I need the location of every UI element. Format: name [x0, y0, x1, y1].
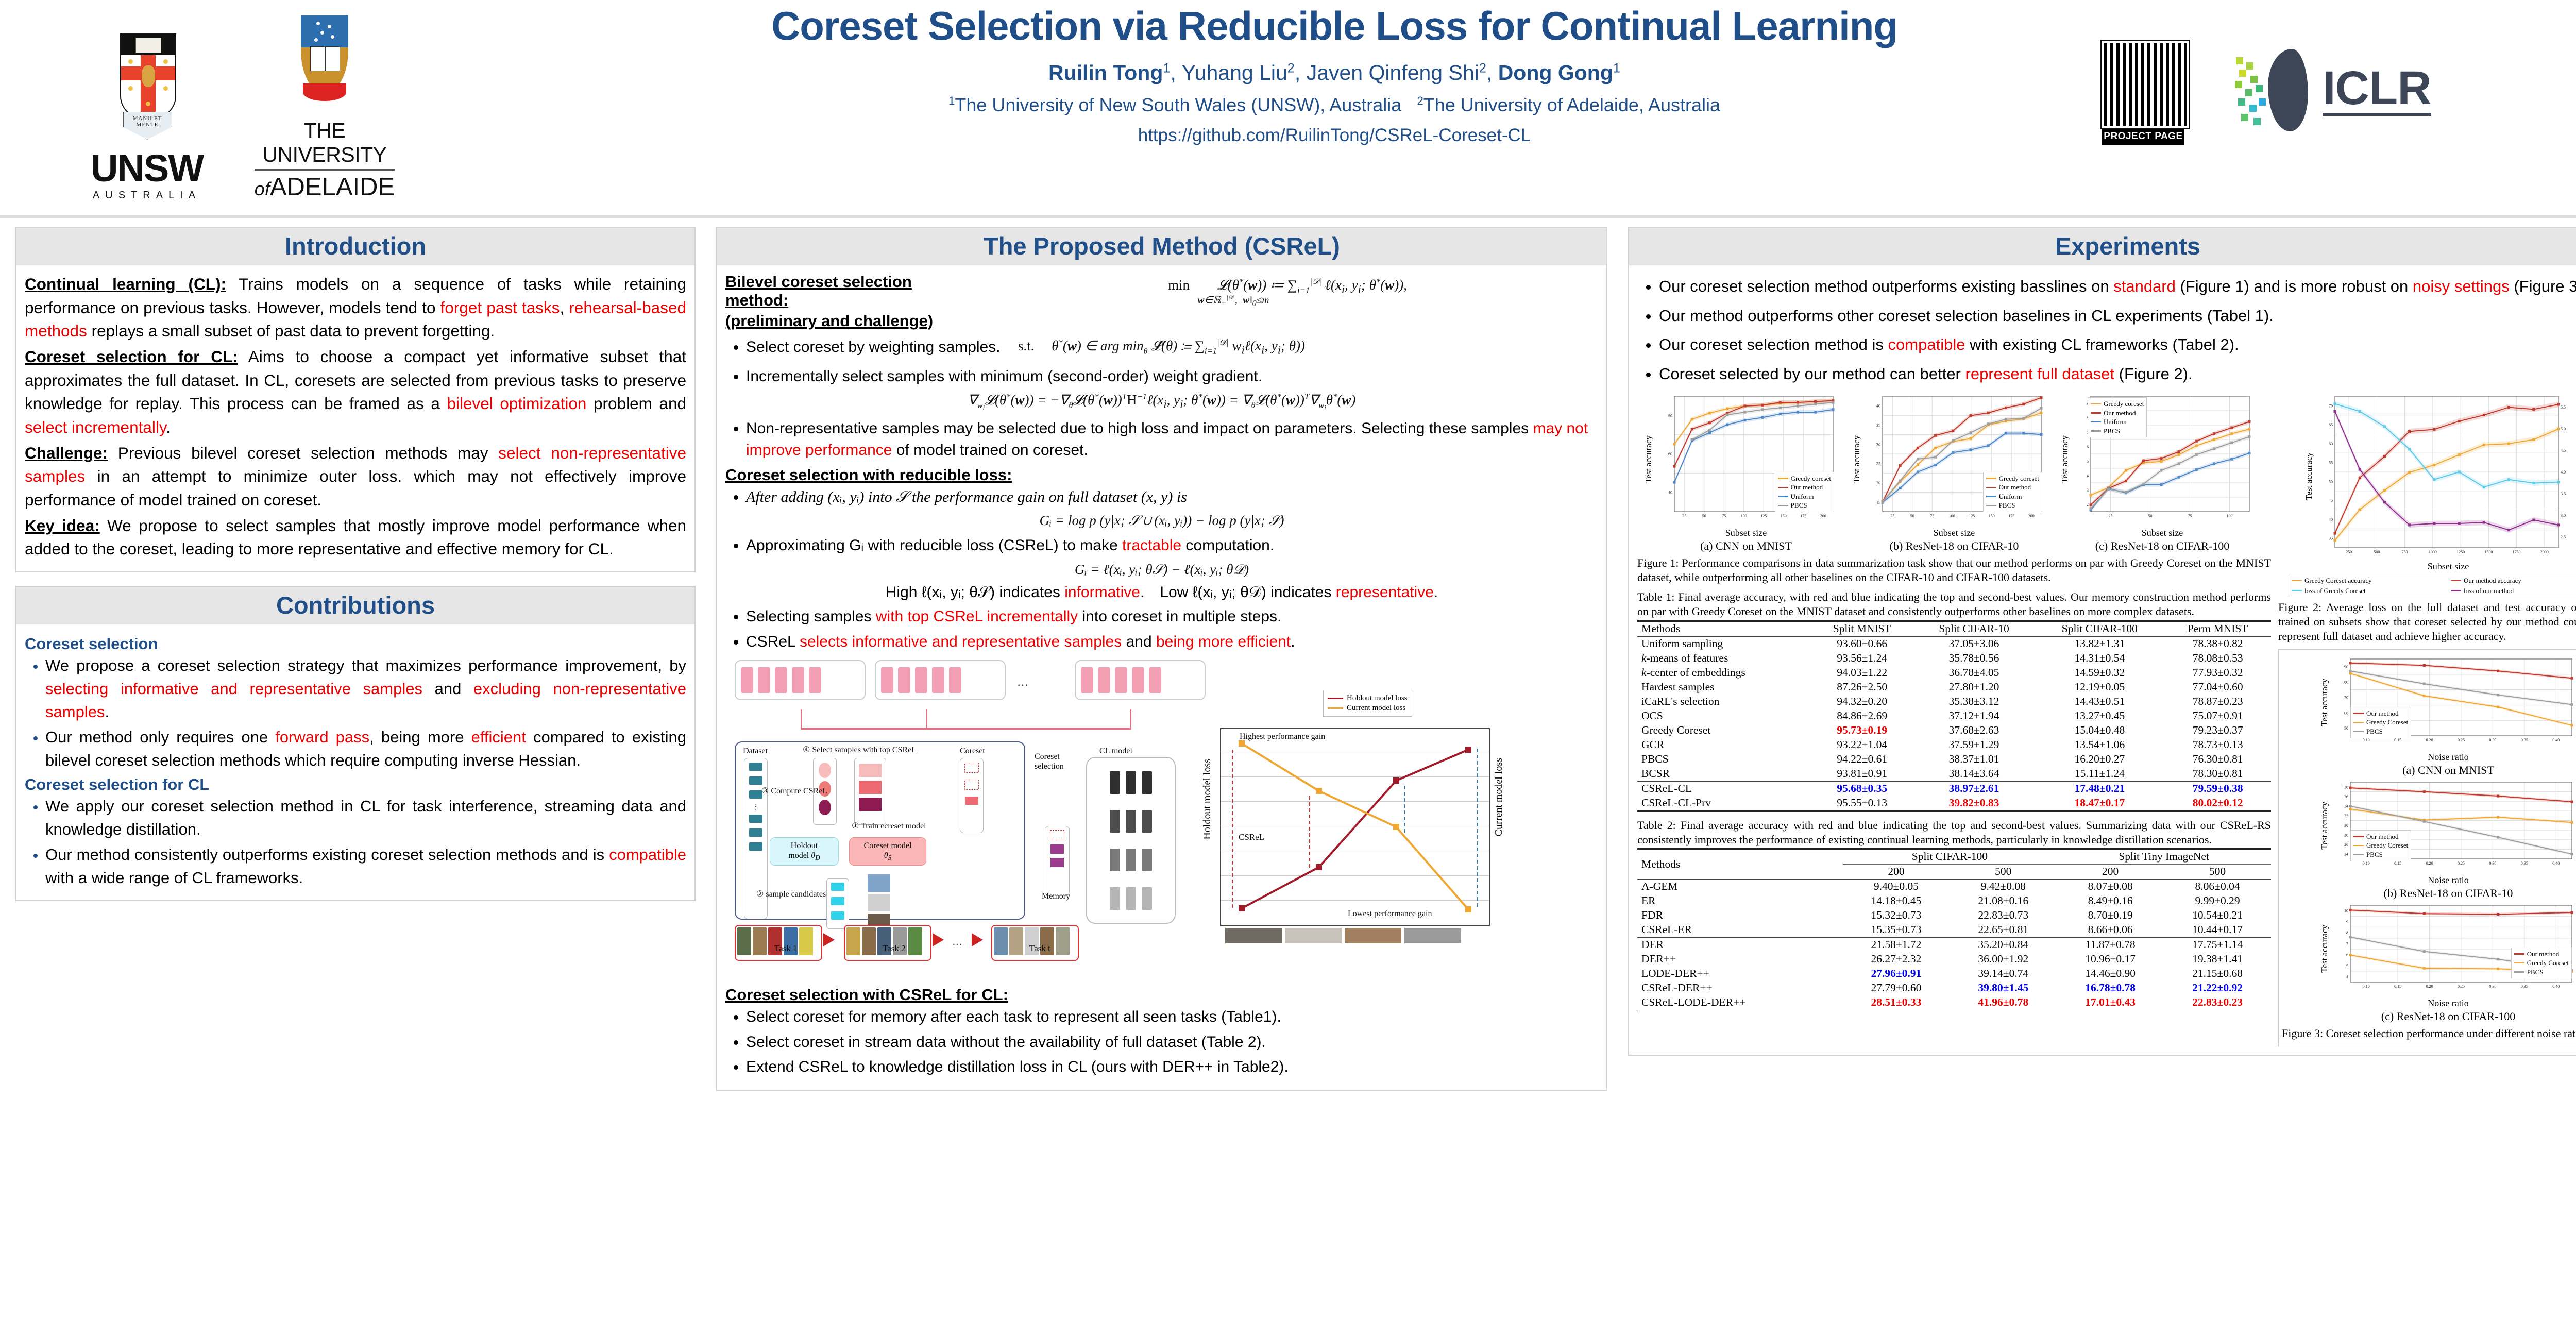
university-logos: MANU ET MENTE UNSW AUSTRALIA [77, 15, 402, 201]
table-cell-value: 75.07±0.91 [2164, 709, 2271, 723]
svg-text:55: 55 [2329, 461, 2333, 465]
diagram-step-1: ① Train ecreset model [852, 821, 926, 831]
table-row: CSReL-ER15.35±0.7322.65±0.818.66±0.0610.… [1637, 923, 2271, 938]
plot-xlabel: Subset size [1852, 528, 2057, 538]
svg-text:0.40: 0.40 [2552, 738, 2560, 742]
paragraph-lead: Coreset selection for CL: [25, 347, 238, 366]
table-cell-value: 78.87±0.23 [2164, 695, 2271, 709]
plot-xlabel: Subset size [1643, 528, 1849, 538]
table-cell-value: 13.27±0.45 [2035, 709, 2164, 723]
plot-ylabel: Test accuracy [2319, 802, 2330, 850]
table-cell-value: 21.15±0.68 [2164, 967, 2271, 981]
svg-text:50: 50 [1702, 514, 1706, 518]
list-item: Incrementally select samples with minimu… [746, 366, 1598, 388]
table-cell-value: 10.44±0.17 [2164, 923, 2271, 938]
body-text: computation. [1181, 537, 1274, 554]
diagram-coreset-selection-label: Coresetselection [1035, 752, 1064, 771]
svg-text:0.35: 0.35 [2521, 738, 2528, 742]
table-cell-value: 78.38±0.82 [2164, 636, 2271, 651]
iclr-logo: ICLR [2231, 49, 2431, 131]
qr-code-caption: PROJECT PAGE [2102, 128, 2184, 145]
unsw-motto: MANU ET MENTE [123, 112, 172, 140]
method-bilevel-bullets: Select coreset by weighting samples. s.t… [725, 333, 1598, 387]
table-cell-method: Greedy Coreset [1637, 723, 1811, 738]
table-row: BCSR93.81±0.9138.14±3.6415.11±1.2478.30±… [1637, 767, 2271, 782]
experiments-body: Our coreset selection method outperforms… [1629, 265, 2576, 1055]
table-cell-method: CSReL-DER++ [1637, 981, 1843, 995]
legend-entry: Greedy Coreset [2514, 958, 2569, 968]
table-cell-value: 36.00±1.92 [1950, 952, 2057, 967]
table-cell-value: 9.99±0.29 [2164, 894, 2271, 908]
table-cell-value: 87.26±2.50 [1811, 680, 1913, 695]
panel-method: The Proposed Method (CSReL) Bilevel core… [716, 227, 1607, 1091]
svg-text:5: 5 [2346, 963, 2348, 968]
paragraph-lead: Key idea: [25, 516, 100, 535]
poster-header: MANU ET MENTE UNSW AUSTRALIA [0, 0, 2576, 222]
table-cell-value: 84.86±2.69 [1811, 709, 1913, 723]
svg-text:3.5: 3.5 [2561, 492, 2566, 496]
svg-text:150: 150 [1989, 514, 1995, 518]
plot-subcaption: (b) ResNet-18 on CIFAR-10 [1852, 539, 2057, 553]
svg-text:4: 4 [2346, 974, 2348, 979]
diagram-cat-image-4 [1404, 928, 1461, 943]
legend-entry: PBCS [2514, 968, 2569, 977]
adelaide-line2: ofADELAIDE [247, 173, 402, 201]
body-text: Our method outperforms other coreset sel… [1659, 307, 2274, 325]
qr-code-block[interactable]: PROJECT PAGE [2102, 41, 2184, 145]
table-row: ER14.18±0.4521.08±0.168.49±0.169.99±0.29 [1637, 894, 2271, 908]
svg-text:50: 50 [1910, 514, 1914, 518]
plot-legend: Our methodGreedy CoresetPBCS [2511, 948, 2572, 979]
table-1: MethodsSplit MNISTSplit CIFAR-10Split CI… [1637, 620, 2271, 812]
svg-text:0.30: 0.30 [2489, 861, 2496, 866]
svg-text:1250: 1250 [2456, 550, 2465, 554]
table-2-header-cell: Methods [1637, 849, 1843, 879]
paragraph-lead: Challenge: [25, 444, 108, 462]
table-cell-value: 38.37±1.01 [1913, 752, 2035, 767]
plot-subcaption: (c) ResNet-18 on CIFAR-100 [2282, 1010, 2576, 1023]
qr-code-icon[interactable] [2102, 41, 2189, 128]
table-cell-value: 14.18±0.45 [1843, 894, 1950, 908]
svg-text:25: 25 [1682, 514, 1686, 518]
diagram-task1-box [735, 925, 822, 961]
svg-text:32: 32 [2344, 814, 2348, 818]
svg-text:1750: 1750 [2513, 550, 2521, 554]
table-cell-value: 79.23±0.37 [2164, 723, 2271, 738]
svg-text:0.10: 0.10 [2363, 861, 2370, 866]
svg-text:3: 3 [2087, 488, 2089, 493]
plot-xlabel: Subset size [2278, 561, 2576, 572]
plot-ylabel: Test accuracy [2060, 435, 2070, 483]
table-cell-value: 8.07±0.08 [2057, 879, 2164, 894]
highlight-text: informative [1064, 584, 1140, 601]
highlight-text: noisy settings [2413, 277, 2510, 295]
table-row: CSReL-DER++27.79±0.6039.80±1.4516.78±0.7… [1637, 981, 2271, 995]
table-cell-value: 8.49±0.16 [2057, 894, 2164, 908]
unsw-wordmark: UNSW [77, 150, 216, 187]
adelaide-of: of [255, 178, 270, 199]
body-text: . [105, 703, 109, 721]
table-cell-value: 77.04±0.60 [2164, 680, 2271, 695]
method-heading-cl: Coreset selection with CSReL for CL: [725, 986, 1598, 1004]
table-cell-value: 13.82±1.31 [2035, 636, 2164, 651]
table-cell-value: 14.31±0.54 [2035, 651, 2164, 666]
legend-entry: PBCS [2353, 850, 2408, 859]
plot-ylabel: Test accuracy [2304, 452, 2314, 500]
svg-text:3.0: 3.0 [2561, 513, 2566, 518]
legend-entry: Greedy coreset [1778, 474, 1831, 483]
table-cell-value: 39.14±0.74 [1950, 967, 2057, 981]
column-middle: The Proposed Method (CSReL) Bilevel core… [716, 227, 1607, 1104]
diagram-pink-row-3 [1075, 660, 1206, 700]
body-text: problem and [586, 394, 686, 413]
table-2: MethodsSplit CIFAR-100Split Tiny ImageNe… [1637, 848, 2271, 1011]
legend-entry: PBCS [1986, 501, 2039, 510]
table-1-header-cell: Perm MNIST [2164, 621, 2271, 636]
svg-text:60: 60 [2344, 711, 2348, 715]
table-cell-value: 94.03±1.22 [1811, 666, 1913, 680]
table-cell-value: 14.59±0.32 [2035, 666, 2164, 680]
plot-ylabel: Test accuracy [2319, 679, 2330, 726]
svg-text:60: 60 [1668, 452, 1672, 456]
table-cell-value: 16.78±0.78 [2057, 981, 2164, 995]
table-cell-value: 17.01±0.43 [2057, 995, 2164, 1011]
table-row: k-means of features93.56±1.2435.78±0.561… [1637, 651, 2271, 666]
table-row: PBCS94.22±0.6138.37±1.0116.20±0.2776.30±… [1637, 752, 2271, 767]
table-cell-value: 76.30±0.81 [2164, 752, 2271, 767]
plot-ylabel: Test accuracy [1852, 435, 1862, 483]
unsw-logo: MANU ET MENTE UNSW AUSTRALIA [77, 33, 216, 201]
table-cell-value: 26.27±2.32 [1843, 952, 1950, 967]
svg-text:5.0: 5.0 [2561, 427, 2566, 431]
table-cell-method: BCSR [1637, 767, 1811, 782]
svg-text:0.10: 0.10 [2363, 738, 2370, 742]
diagram-step-4: ④ Select samples with top CSReL [803, 745, 917, 755]
table-cell-value: 15.11±1.24 [2035, 767, 2164, 782]
paragraph-lead: Continual learning (CL): [25, 275, 226, 293]
table-cell-method: CSReL-CL-Prv [1637, 796, 1811, 811]
svg-text:75: 75 [1722, 514, 1726, 518]
diagram-sample-image-1 [868, 874, 890, 892]
table-cell-value: 14.43±0.51 [2035, 695, 2164, 709]
plot-legend: Our methodGreedy CoresetPBCS [2350, 830, 2411, 861]
diagram-step-3: ③ Compute CSReL [761, 786, 827, 796]
table-cell-value: 10.54±0.21 [2164, 908, 2271, 923]
legend-entry: Greedy Coreset accuracy [2292, 576, 2446, 585]
adelaide-divider [255, 169, 395, 171]
figure-2-legend: Greedy Coreset accuracyOur method accura… [2289, 574, 2576, 597]
table-2-subheader-cell: 500 [1950, 864, 2057, 879]
table-cell-value: 17.48±0.21 [2035, 781, 2164, 796]
figure-2-plot: Test accuracy35404550556065702.53.03.54.… [2278, 391, 2576, 597]
project-link[interactable]: https://github.com/RuilinTong/CSReL-Core… [587, 125, 2081, 146]
body-text: High ℓ(xᵢ, yᵢ; θ𝒮) indicates [886, 584, 1064, 601]
method-note: High ℓ(xᵢ, yᵢ; θ𝒮) indicates informative… [725, 581, 1598, 604]
table-cell-value: 35.38±3.12 [1913, 695, 2035, 709]
svg-text:0.40: 0.40 [2552, 861, 2560, 866]
svg-text:0.25: 0.25 [2458, 861, 2465, 866]
list-item: Select coreset by weighting samples. s.t… [746, 333, 1598, 363]
contribution-list: We propose a coreset selection strategy … [25, 654, 686, 772]
table-cell-method: DER [1637, 937, 1843, 952]
svg-text:70: 70 [2344, 695, 2348, 700]
svg-text:0.40: 0.40 [2552, 984, 2560, 989]
table-cell-value: 39.80±1.45 [1950, 981, 2057, 995]
legend-entry: Greedy Coreset [2353, 718, 2408, 727]
table-cell-method: DER++ [1637, 952, 1843, 967]
plot-ylabel: Test accuracy [2319, 925, 2330, 973]
table-row: iCaRL's selection94.32±0.2035.38±3.1214.… [1637, 695, 2271, 709]
svg-text:25: 25 [1876, 462, 1880, 466]
figure-3-caption: Figure 3: Coreset selection performance … [2282, 1026, 2576, 1041]
plot-subcaption: (c) ResNet-18 on CIFAR-100 [2060, 539, 2265, 553]
svg-text:175: 175 [2008, 514, 2014, 518]
legend-entry: Our method [1986, 483, 2039, 492]
svg-text:35: 35 [2329, 536, 2333, 541]
svg-text:24: 24 [2344, 852, 2348, 856]
svg-text:125: 125 [1969, 514, 1975, 518]
table-cell-value: 95.73±0.19 [1811, 723, 1913, 738]
list-item: Our method consistently outperforms exis… [45, 843, 686, 890]
legend-entry: PBCS [2353, 727, 2408, 736]
body-text: into coreset in multiple steps. [1078, 608, 1281, 625]
figure-3-block: Test accuracy50607080900.100.150.200.250… [2278, 649, 2576, 1046]
highlight-text: forget past tasks [440, 298, 560, 317]
figure-3-panel: Test accuracy456789100.100.150.200.250.3… [2282, 900, 2576, 1023]
diagram-coreset-column [960, 758, 984, 833]
table-cell-value: 9.40±0.05 [1843, 879, 1950, 894]
svg-text:100: 100 [1949, 514, 1955, 518]
highlight-text: efficient [471, 728, 526, 746]
diagram-coreset-label: Coreset [960, 747, 985, 756]
diagram-inline-chart: Highest performance gain CSReL Lowest pe… [1220, 728, 1490, 926]
svg-text:30: 30 [2344, 823, 2348, 827]
table-cell-value: 38.14±3.64 [1913, 767, 2035, 782]
figure-2-caption: Figure 2: Average loss on the full datas… [2278, 600, 2576, 644]
list-item: Our method outperforms other coreset sel… [1659, 304, 2576, 328]
svg-text:150: 150 [1781, 514, 1787, 518]
svg-text:0.15: 0.15 [2394, 861, 2401, 866]
table-row: CSReL-CL95.68±0.3538.97±2.6117.48±0.2179… [1637, 781, 2271, 796]
legend-entry: loss of Greedy Coreset [2292, 586, 2446, 596]
contribution-subheading: Coreset selection for CL [25, 775, 686, 794]
table-2-subheader-cell: 500 [2164, 864, 2271, 879]
table-cell-value: 79.59±0.38 [2164, 781, 2271, 796]
method-cl-bullets: Select coreset for memory after each tas… [725, 1006, 1598, 1078]
figure-1-panel-3: Test accuracy23456789255075100Greedy cor… [2060, 391, 2265, 553]
svg-text:5.5: 5.5 [2561, 405, 2566, 410]
list-item: Our method only requires one forward pas… [45, 726, 686, 772]
contribution-subheading: Coreset selection [25, 635, 686, 653]
svg-text:50: 50 [2344, 726, 2348, 731]
svg-text:40: 40 [1668, 491, 1672, 495]
svg-text:45: 45 [2329, 498, 2333, 503]
legend-entry: Uniform [1986, 492, 2039, 501]
body-text: Our coreset selection method is [1659, 335, 1888, 353]
svg-text:75: 75 [2188, 514, 2192, 518]
method-heading-line2: (preliminary and challenge) [725, 312, 968, 330]
body-text: Our coreset selection method outperforms… [1659, 277, 2113, 295]
svg-text:500: 500 [2374, 550, 2380, 554]
table-cell-value: 93.60±0.66 [1811, 636, 1913, 651]
body-text: Coreset selected by our method can bette… [1659, 365, 1965, 383]
table-row: CSReL-LODE-DER++28.51±0.3341.96±0.7817.0… [1637, 995, 2271, 1011]
body-text: Approximating Gᵢ with reducible loss (CS… [746, 537, 1122, 554]
table-2-subheader-cell: 200 [2057, 864, 2164, 879]
table-cell-value: 36.78±4.05 [1913, 666, 2035, 680]
affiliation-2: The University of Adelaide, Australia [1423, 94, 1720, 115]
table-cell-value: 39.82±0.83 [1913, 796, 2035, 811]
table-2-subheader-cell: 200 [1843, 864, 1950, 879]
body-text: Our method only requires one [45, 728, 275, 746]
figure-3-plots: Test accuracy50607080900.100.150.200.250… [2282, 654, 2576, 1023]
table-row: DER21.58±1.7235.20±0.8411.87±0.7817.75±1… [1637, 937, 2271, 952]
plot-ylabel: Test accuracy [1643, 435, 1654, 483]
method-reducible-bullets: After adding (xᵢ, yᵢ) into 𝒮 the perform… [725, 486, 1598, 509]
body-text: We propose a coreset selection strategy … [45, 656, 686, 674]
highlight-text: select incrementally [25, 418, 166, 436]
table-cell-value: 35.78±0.56 [1913, 651, 2035, 666]
svg-text:0.30: 0.30 [2489, 738, 2496, 742]
plot-subcaption: (a) CNN on MNIST [2282, 764, 2576, 777]
svg-text:0.20: 0.20 [2426, 984, 2433, 989]
legend-entry: Greedy Coreset [2353, 841, 2408, 850]
legend-entry: Our method [2353, 709, 2408, 718]
body-text: and [1122, 633, 1156, 650]
table-cell-value: 15.35±0.73 [1843, 923, 1950, 938]
svg-text:0.15: 0.15 [2394, 738, 2401, 742]
legend-entry: Our method accuracy [2451, 576, 2576, 585]
table-row: FDR15.32±0.7322.83±0.738.70±0.1910.54±0.… [1637, 908, 2271, 923]
method-approx-bullets: Approximating Gᵢ with reducible loss (CS… [725, 535, 1598, 557]
table-cell-value: 15.32±0.73 [1843, 908, 1950, 923]
svg-text:0.35: 0.35 [2521, 861, 2528, 866]
table-cell-method: CSReL-CL [1637, 781, 1811, 796]
diagram-memory-column [1045, 826, 1070, 896]
method-heading-reducible: Coreset selection with reducible loss: [725, 466, 1598, 484]
svg-text:1500: 1500 [2484, 550, 2493, 554]
adelaide-line1: THE UNIVERSITY [247, 119, 402, 167]
introduction-body: Continual learning (CL): Trains models o… [16, 265, 694, 571]
table-cell-method: CSReL-ER [1637, 923, 1843, 938]
legend-entry: Our method [2353, 832, 2408, 841]
svg-text:200: 200 [1820, 514, 1826, 518]
highlight-text: representative [1336, 584, 1434, 601]
svg-text:6: 6 [2346, 952, 2348, 957]
table-cell-value: 95.55±0.13 [1811, 796, 1913, 811]
diagram-ellipsis-top: … [1017, 675, 1028, 689]
figure-1-panel-1: Test accuracy406080255075100125150175200… [1643, 391, 1849, 553]
table-cell-value: 11.87±0.78 [2057, 937, 2164, 952]
diagram-chart-ann-csrel: CSReL [1239, 832, 1264, 842]
table-cell-value: 94.22±0.61 [1811, 752, 1913, 767]
intro-paragraph: Continual learning (CL): Trains models o… [25, 273, 686, 343]
intro-paragraph: Key idea: We propose to select samples t… [25, 514, 686, 561]
intro-paragraph: Challenge: Previous bilevel coreset sele… [25, 442, 686, 512]
table-cell-value: 41.96±0.78 [1950, 995, 2057, 1011]
list-item: Extend CSReL to knowledge distillation l… [746, 1056, 1598, 1078]
list-item: We apply our coreset selection method in… [45, 795, 686, 841]
svg-text:100: 100 [1741, 514, 1747, 518]
table-cell-value: 21.58±1.72 [1843, 937, 1950, 952]
table-cell-value: 78.30±0.81 [2164, 767, 2271, 782]
svg-text:10: 10 [2344, 908, 2348, 913]
body-text: Our method consistently outperforms exis… [45, 845, 609, 864]
diagram-chart-ylabel-right: Current model loss [1493, 758, 1505, 836]
table-row: DER++26.27±2.3236.00±1.9210.96±0.1719.38… [1637, 952, 2271, 967]
body-text: . [1291, 633, 1295, 650]
figure-1-plots: Test accuracy406080255075100125150175200… [1637, 391, 2271, 553]
body-text: in an attempt to minimize outer loss. wh… [25, 467, 686, 509]
table-cell-method: iCaRL's selection [1637, 695, 1811, 709]
table-row: GCR93.22±1.0437.59±1.2913.54±1.0678.73±0… [1637, 738, 2271, 752]
plot-legend: Greedy coresetOur methodUniformPBCS [1983, 472, 2042, 512]
legend-entry: loss of our method [2451, 586, 2576, 596]
diagram-pink-row-1 [735, 660, 866, 700]
highlight-text: being more efficient [1156, 633, 1291, 650]
legend-entry: Uniform [2091, 417, 2144, 427]
body-text: . [166, 418, 171, 436]
plot-legend: Greedy coresetOur methodUniformPBCS [1775, 472, 1834, 512]
svg-text:38: 38 [2344, 785, 2348, 789]
equation-inner: s.t. θ*(w) ∈ arg minθ 𝓛̂(θ) ≔ ∑i=1|𝒟| wi… [1018, 337, 1305, 358]
table-cell-value: 93.22±1.04 [1811, 738, 1913, 752]
plot-legend: Greedy coresetOur methodUniformPBCS [2088, 397, 2147, 437]
diagram-cat-image-2 [1285, 928, 1342, 943]
body-text: Previous bilevel coreset selection metho… [108, 444, 498, 462]
svg-text:36: 36 [2344, 794, 2348, 799]
svg-text:2000: 2000 [2540, 550, 2549, 554]
svg-text:15: 15 [1876, 500, 1880, 504]
table-cell-method: Hardest samples [1637, 680, 1811, 695]
table-1-caption: Table 1: Final average accuracy, with re… [1637, 590, 2271, 619]
table-cell-value: 8.70±0.19 [2057, 908, 2164, 923]
table-cell-value: 15.04±0.48 [2035, 723, 2164, 738]
svg-text:125: 125 [1760, 514, 1767, 518]
svg-text:35: 35 [1876, 423, 1880, 428]
table-cell-value: 8.66±0.06 [2057, 923, 2164, 938]
highlight-text: selecting informative and representative… [45, 680, 422, 698]
table-cell-value: 37.05±3.06 [1913, 636, 2035, 651]
page-title: Coreset Selection via Reducible Loss for… [587, 5, 2081, 47]
experiments-bullets: Our coreset selection method outperforms… [1637, 275, 2576, 386]
table-cell-method: GCR [1637, 738, 1811, 752]
svg-text:30: 30 [1876, 442, 1880, 447]
table-cell-value: 27.96±0.91 [1843, 967, 1950, 981]
svg-text:80: 80 [1668, 413, 1672, 418]
table-cell-value: 37.12±1.94 [1913, 709, 2035, 723]
list-item: Select coreset in stream data without th… [746, 1031, 1598, 1054]
table-cell-value: 93.56±1.24 [1811, 651, 1913, 666]
legend-entry: PBCS [1778, 501, 1831, 510]
diagram-step-2: ② sample candidates [756, 889, 826, 899]
plot-subcaption: (a) CNN on MNIST [1643, 539, 1849, 553]
unsw-crest-icon: MANU ET MENTE [120, 33, 174, 144]
svg-text:0.25: 0.25 [2458, 738, 2465, 742]
diagram-memory-label: Memory [1042, 892, 1070, 901]
list-item: We propose a coreset selection strategy … [45, 654, 686, 724]
method-diagram: … Dataset ④ Select samples with top CSRe… [725, 656, 1596, 944]
svg-text:6: 6 [2087, 445, 2089, 449]
intro-paragraph: Coreset selection for CL: Aims to choose… [25, 345, 686, 439]
svg-text:2: 2 [2087, 502, 2089, 507]
body-text: . [1434, 584, 1438, 601]
svg-text:40: 40 [2329, 517, 2333, 522]
svg-text:4.0: 4.0 [2561, 470, 2566, 475]
legend-entry: Our method [1778, 483, 1831, 492]
svg-text:0.25: 0.25 [2458, 984, 2465, 989]
table-cell-value: 9.42±0.08 [1950, 879, 2057, 894]
